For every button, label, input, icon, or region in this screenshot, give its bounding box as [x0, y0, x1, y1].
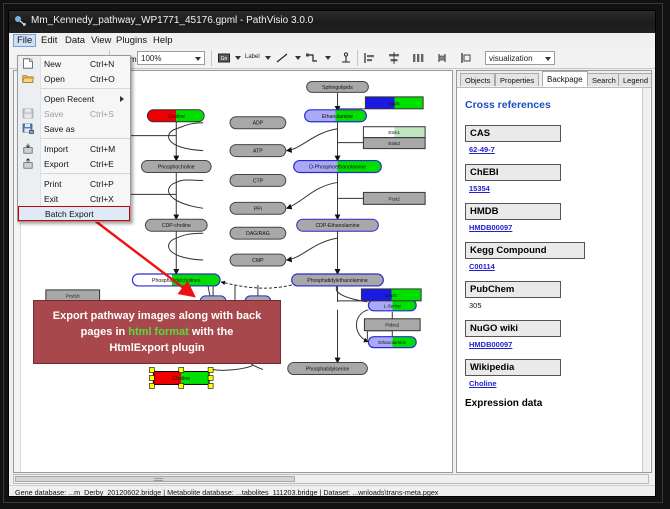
pathway-node[interactable]: Phosphatidylcholines [132, 274, 220, 286]
node-label: DAG/RAG [246, 231, 270, 237]
xref-name-cas: CAS [465, 125, 561, 142]
pathvisio-application-window: Mm_Kennedy_pathway_WP1771_45176.gpml - P… [8, 10, 656, 497]
file-menu-dropdown[interactable]: New Ctrl+N Open Ctrl+O Open Recent [17, 55, 131, 222]
annotation-callout: Export pathway images along with back pa… [33, 300, 281, 364]
file-menu-save-accel: Ctrl+S [90, 109, 114, 119]
chevron-down-icon[interactable] [265, 56, 271, 60]
zoom-value: 100% [141, 54, 161, 63]
file-menu-save-label: Save [44, 109, 63, 119]
callout-line-2: pages in html format with the [81, 324, 234, 340]
scrollbar-grip-icon [154, 478, 163, 481]
node-label: PPi [254, 206, 262, 212]
gene-label: Etnk1 [388, 130, 400, 135]
xref-name-wikipedia: Wikipedia [465, 359, 561, 376]
xref-value-chebi[interactable]: 15354 [469, 184, 647, 193]
export-icon [22, 158, 34, 169]
xref-value-cas[interactable]: 62-49-7 [469, 145, 647, 154]
label-button-text[interactable]: Label [245, 54, 260, 60]
cross-references-heading: Cross references [465, 99, 647, 111]
menu-plugins[interactable]: Plugins [112, 34, 151, 47]
status-bar: Gene database: ...m_Derby_20120602.bridg… [9, 485, 655, 497]
xref-value-hmdb[interactable]: HMDB00097 [469, 223, 647, 232]
side-panel-tabs: Objects Properties Backpage Search Legen… [457, 71, 651, 88]
node-label: O-Phosphoethanolamine [309, 165, 366, 171]
line-icon[interactable] [275, 51, 289, 65]
pathvisio-app-icon [14, 15, 27, 28]
node-label: Choline [168, 114, 186, 120]
file-menu-batch-export-label: Batch Export [45, 209, 94, 219]
xref-value-wikipedia[interactable]: Choline [469, 379, 647, 388]
xref-value-nugo[interactable]: HMDB00097 [469, 340, 647, 349]
callout-line-2-prefix: pages in [81, 326, 129, 338]
file-menu-new[interactable]: New Ctrl+N [18, 56, 130, 71]
pathway-node[interactable]: Choline [147, 110, 204, 122]
menu-edit[interactable]: Edit [37, 34, 61, 47]
file-menu-exit-accel: Ctrl+X [90, 194, 114, 204]
node-label: CDP-choline [162, 223, 191, 229]
file-menu-batch-export[interactable]: Batch Export [18, 206, 130, 221]
node-label: Phosphatidylserine [306, 367, 350, 373]
file-menu-export-accel: Ctrl+E [90, 159, 114, 169]
visualization-combobox[interactable]: visualization [485, 51, 555, 65]
gene-label: Cept1 [385, 293, 398, 298]
xref-name-hmdb: HMDB [465, 203, 561, 220]
pathway-node[interactable]: L-Serine [368, 300, 416, 311]
side-panel-scrollbar[interactable] [642, 88, 650, 472]
pathway-node[interactable]: Ethanolamine [368, 337, 416, 348]
align-center-icon[interactable] [387, 51, 401, 65]
file-menu-divider [40, 173, 130, 174]
pathway-node[interactable]: Phosphatidylethanolamine [292, 274, 384, 286]
gene-label: Etnk2 [388, 141, 400, 146]
tab-search[interactable]: Search [587, 73, 621, 86]
node-label: Phosphatidylethanolamine [307, 278, 368, 284]
pathway-node[interactable]: Phosphocholine [141, 161, 211, 173]
order-icon[interactable] [459, 51, 473, 65]
xref-value-kegg[interactable]: C00114 [469, 262, 647, 271]
gene-label: Ptdss2 [385, 323, 399, 328]
tab-objects[interactable]: Objects [460, 73, 495, 86]
new-file-icon [22, 58, 34, 69]
import-icon [22, 143, 34, 154]
gene-box[interactable]: Ptdss2 [364, 319, 420, 331]
gene-box[interactable]: Sgpl1 [365, 97, 423, 109]
tab-legend[interactable]: Legend [618, 73, 652, 86]
window-title: Mm_Kennedy_pathway_WP1771_45176.gpml - P… [31, 15, 313, 26]
tab-properties[interactable]: Properties [495, 73, 539, 86]
file-menu-print[interactable]: Print Ctrl+P [18, 176, 130, 191]
callout-line-1: Export pathway images along with back [53, 308, 261, 324]
title-bar: Mm_Kennedy_pathway_WP1771_45176.gpml - P… [9, 11, 655, 33]
connector-icon[interactable] [305, 51, 319, 65]
file-menu-import[interactable]: Import Ctrl+M [18, 141, 130, 156]
pathway-node[interactable]: CMP [230, 254, 286, 266]
node-label: ADP [253, 121, 264, 127]
file-menu-open-accel: Ctrl+O [90, 74, 115, 84]
file-menu-new-accel: Ctrl+N [90, 59, 114, 69]
node-label: Phosphatidylcholines [152, 278, 201, 284]
pathway-node[interactable]: PPi [230, 202, 286, 214]
node-label: Sphingolipids [322, 85, 353, 91]
file-menu-open-label: Open [44, 74, 65, 84]
file-menu-exit-label: Exit [44, 194, 58, 204]
callout-line-2-suffix: with the [189, 326, 234, 338]
gene-label: Sgpl1 [388, 101, 400, 106]
node-label: Phosphocholine [158, 165, 195, 171]
xref-name-nugo: NuGO wiki [465, 320, 561, 337]
backpage-content: Cross references CAS 62-49-7 ChEBI 15354… [463, 89, 647, 471]
svg-text:Gn: Gn [221, 56, 228, 62]
save-disk-icon [22, 108, 34, 119]
gene-label: Pcyt2 [389, 196, 401, 201]
xref-name-pubchem: PubChem [465, 281, 561, 298]
file-menu-print-label: Print [44, 179, 61, 189]
horizontal-scrollbar[interactable] [13, 474, 649, 484]
chevron-down-icon[interactable] [325, 56, 331, 60]
side-panel: Objects Properties Backpage Search Legen… [456, 70, 652, 473]
stack-icon[interactable] [435, 51, 449, 65]
callout-highlight: html format [128, 326, 189, 338]
distribute-icon[interactable] [411, 51, 425, 65]
node-label: L-Serine [384, 303, 402, 308]
file-menu-open[interactable]: Open Ctrl+O [18, 71, 130, 86]
file-menu-save-as[interactable]: Save as [18, 121, 130, 136]
pathway-node[interactable]: Ethanolamine [305, 110, 367, 122]
zoom-combobox[interactable]: 100% [137, 51, 205, 65]
pathway-node[interactable]: O-Phosphoethanolamine [294, 161, 382, 173]
file-menu-import-label: Import [44, 144, 68, 154]
pathway-node[interactable]: Phosphatidylserine [288, 363, 368, 375]
chevron-down-icon[interactable] [235, 56, 241, 60]
align-left-icon[interactable] [363, 51, 377, 65]
xref-name-chebi: ChEBI [465, 164, 561, 181]
open-folder-icon [22, 73, 34, 84]
file-menu-divider [40, 138, 130, 139]
gene-box[interactable]: Cept1 [361, 289, 421, 301]
callout-line-3: HtmlExport plugin [109, 340, 204, 356]
pathway-node[interactable]: DAG/RAG [230, 227, 286, 239]
status-text: Gene database: ...m_Derby_20120602.bridg… [15, 488, 438, 497]
file-menu-open-recent[interactable]: Open Recent [18, 91, 130, 106]
gene-box-icon[interactable]: Gn [217, 51, 231, 65]
menu-data[interactable]: Data [61, 34, 89, 47]
chevron-down-icon [545, 57, 551, 61]
file-menu-save: Save Ctrl+S [18, 106, 130, 121]
node-label: CMP [252, 258, 264, 264]
chevron-right-icon [120, 96, 124, 102]
screenshot-frame: Mm_Kennedy_pathway_WP1771_45176.gpml - P… [0, 0, 670, 509]
node-label: Choline [172, 376, 190, 382]
pathway-node[interactable]: CDP-Ethanolamine [297, 219, 379, 231]
node-label: ATP [253, 149, 263, 155]
file-menu-new-label: New [44, 59, 61, 69]
pathway-node[interactable]: CTP [230, 174, 286, 186]
anchor-icon[interactable] [339, 51, 353, 65]
menu-bar: File Edit Data View Plugins Help [9, 33, 655, 49]
node-label: CTP [253, 178, 264, 184]
file-menu-exit[interactable]: Exit Ctrl+X [18, 191, 130, 206]
file-menu-export[interactable]: Export Ctrl+E [18, 156, 130, 171]
gene-box[interactable]: Etnk2 [363, 138, 425, 149]
node-label: Ethanolamine [322, 114, 354, 120]
pathway-node[interactable]: ADP [230, 117, 286, 129]
node-label: Ethanolamine [378, 340, 406, 345]
tab-backpage[interactable]: Backpage [542, 71, 588, 87]
xref-value-pubchem: 305 [469, 301, 647, 310]
gene-label: Pcyt1b [66, 293, 80, 298]
chevron-down-icon[interactable] [295, 56, 301, 60]
save-as-icon [22, 123, 34, 134]
pathway-node[interactable]: CDP-choline [145, 219, 207, 231]
toolbar-separator [357, 50, 358, 66]
file-menu-export-label: Export [44, 159, 69, 169]
pathway-node-selected[interactable]: Choline [149, 368, 213, 389]
gene-box[interactable]: Pcyt2 [363, 192, 425, 204]
file-menu-import-accel: Ctrl+M [90, 144, 115, 154]
xref-name-kegg: Kegg Compound [465, 242, 585, 259]
chevron-down-icon [195, 57, 201, 61]
expression-data-heading: Expression data [465, 398, 647, 409]
pathway-node[interactable]: Sphingolipids [307, 81, 369, 92]
gene-box[interactable]: Etnk1 [363, 127, 425, 138]
pathway-node[interactable]: ATP [230, 145, 286, 157]
menu-file[interactable]: File [13, 34, 36, 47]
node-label: CDP-Ethanolamine [315, 223, 359, 229]
file-menu-divider [40, 88, 130, 89]
toolbar-separator [211, 50, 212, 66]
file-menu-save-as-label: Save as [44, 124, 75, 134]
file-menu-print-accel: Ctrl+P [90, 179, 114, 189]
visualization-value: visualization [489, 54, 533, 63]
menu-help[interactable]: Help [149, 34, 177, 47]
file-menu-open-recent-label: Open Recent [44, 94, 94, 104]
